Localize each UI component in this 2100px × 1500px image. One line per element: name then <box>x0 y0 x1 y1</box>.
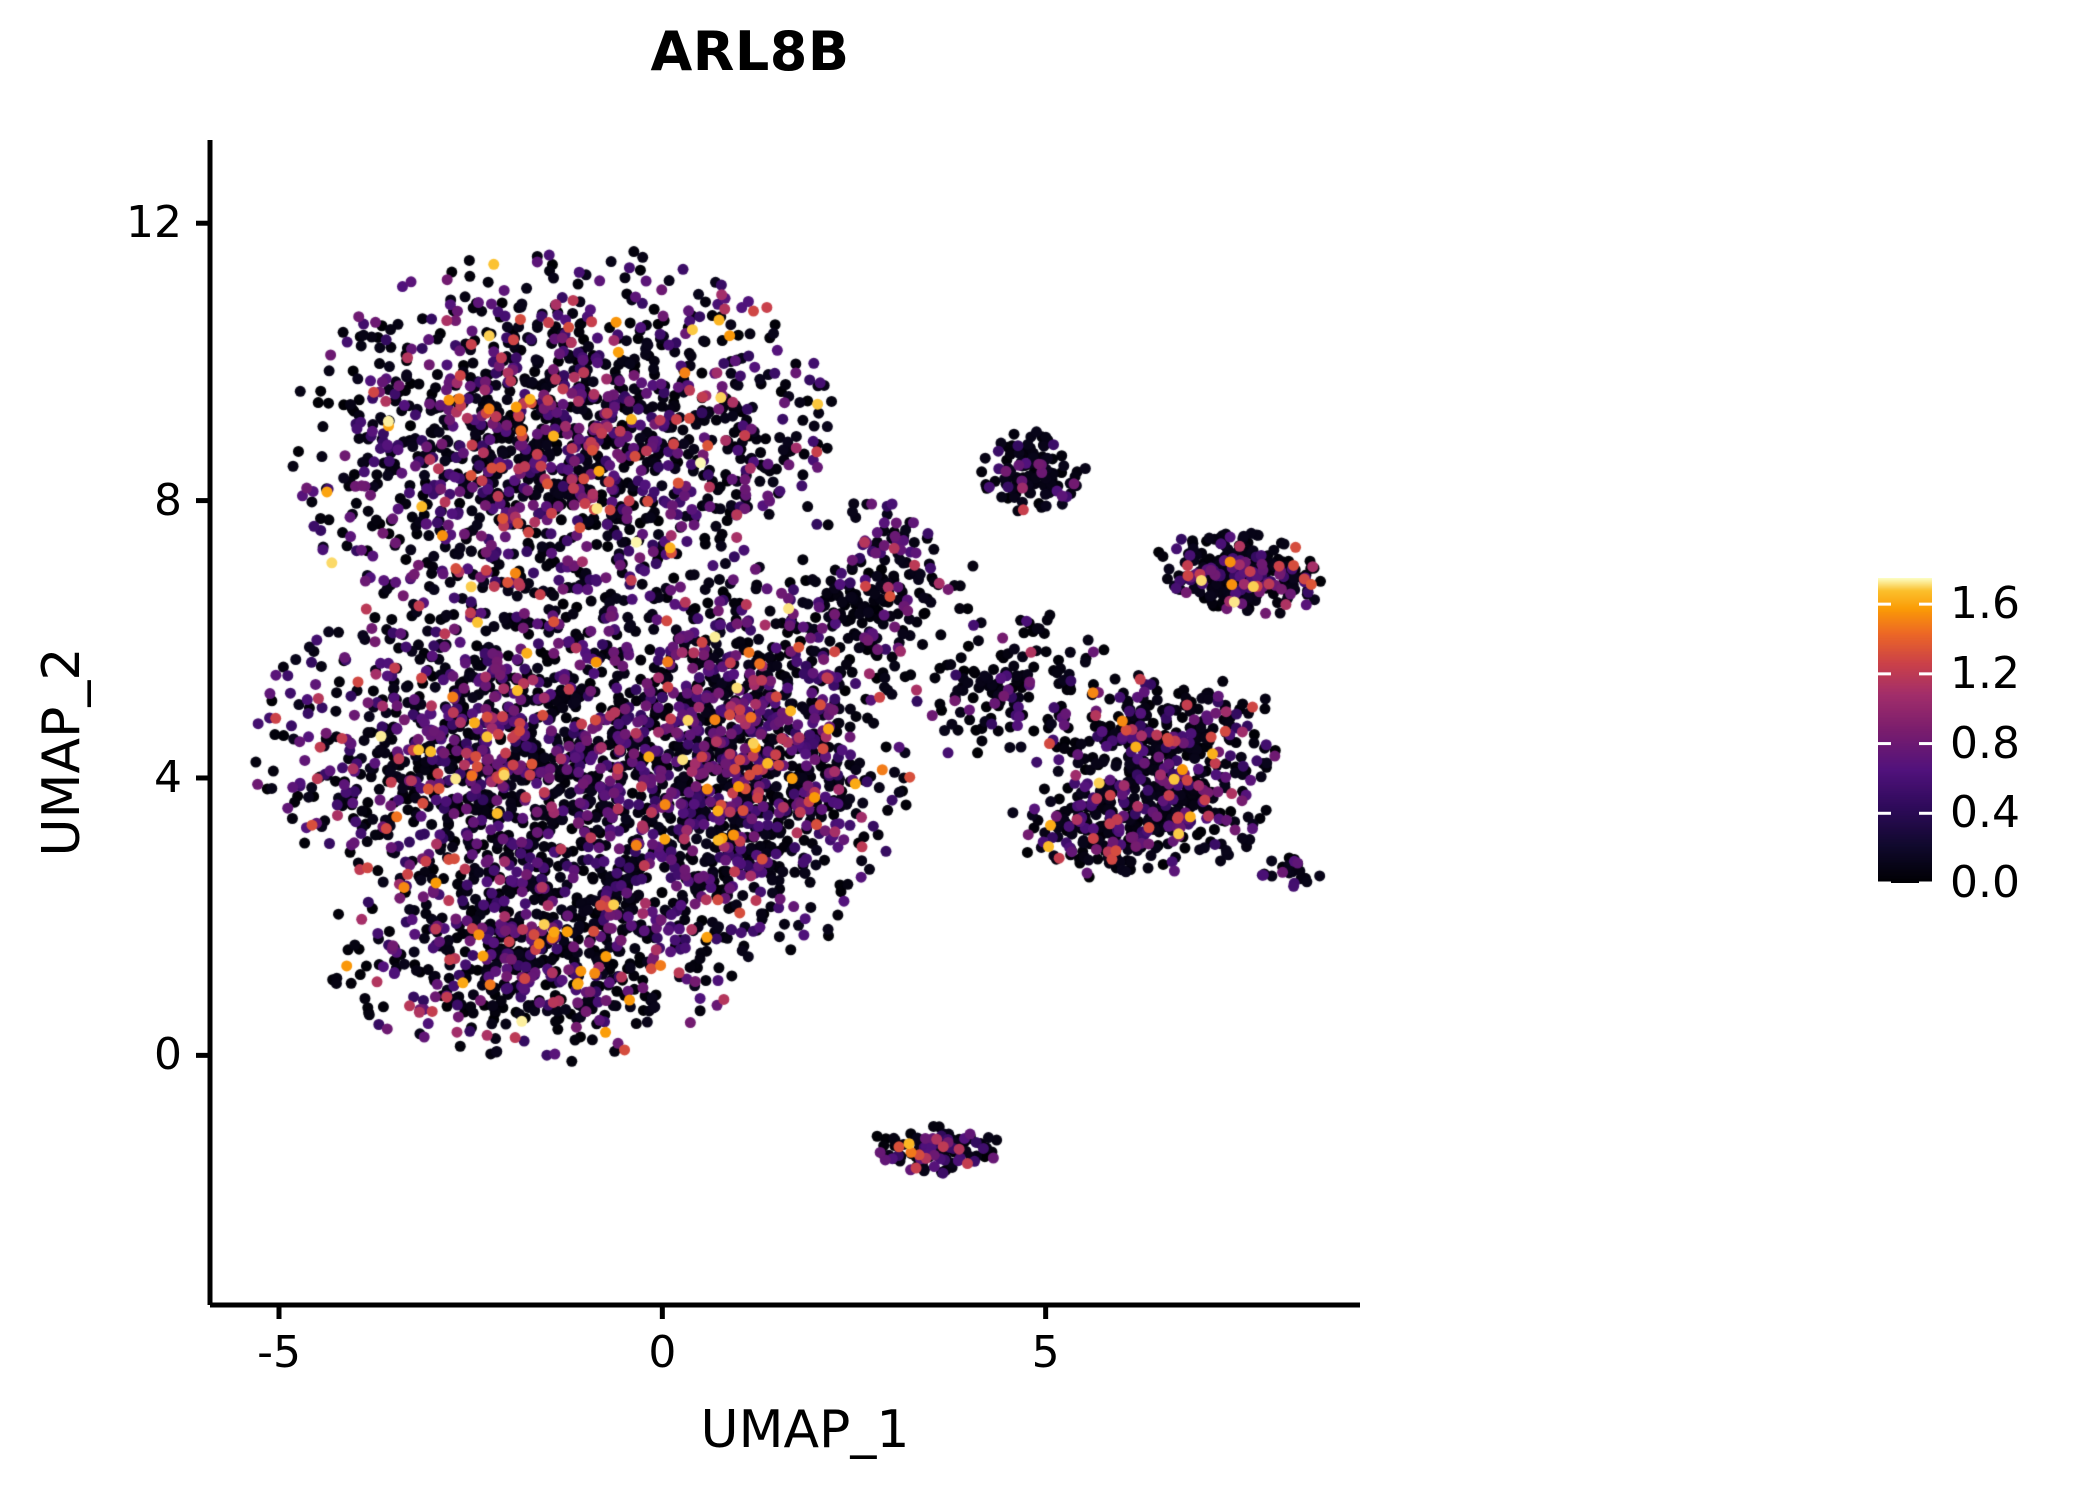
x-tick-label: -5 <box>257 1331 301 1375</box>
y-tick-label: 8 <box>0 479 182 523</box>
umap-feature-plot-figure: ARL8B 04812 -505 UMAP_2 UMAP_1 1.61.20.8… <box>0 0 2100 1500</box>
colorbar-tick-label: 0.8 <box>1950 722 2020 766</box>
colorbar-tick-label: 1.6 <box>1950 582 2020 626</box>
colorbar-gradient <box>1878 578 1932 883</box>
x-tick-label: 0 <box>648 1331 676 1375</box>
colorbar-tick-label: 0.4 <box>1950 791 2020 835</box>
scatter-plot-canvas[interactable] <box>210 140 1360 1305</box>
x-tick-label: 5 <box>1032 1331 1060 1375</box>
page-title: ARL8B <box>0 22 1500 81</box>
y-tick-label: 12 <box>0 201 182 245</box>
y-tick-label: 0 <box>0 1033 182 1077</box>
x-axis-label: UMAP_1 <box>445 1400 1165 1460</box>
y-axis-label: UMAP_2 <box>32 542 92 962</box>
colorbar-tick-label: 0.0 <box>1950 861 2020 905</box>
colorbar-tick-label: 1.2 <box>1950 652 2020 696</box>
